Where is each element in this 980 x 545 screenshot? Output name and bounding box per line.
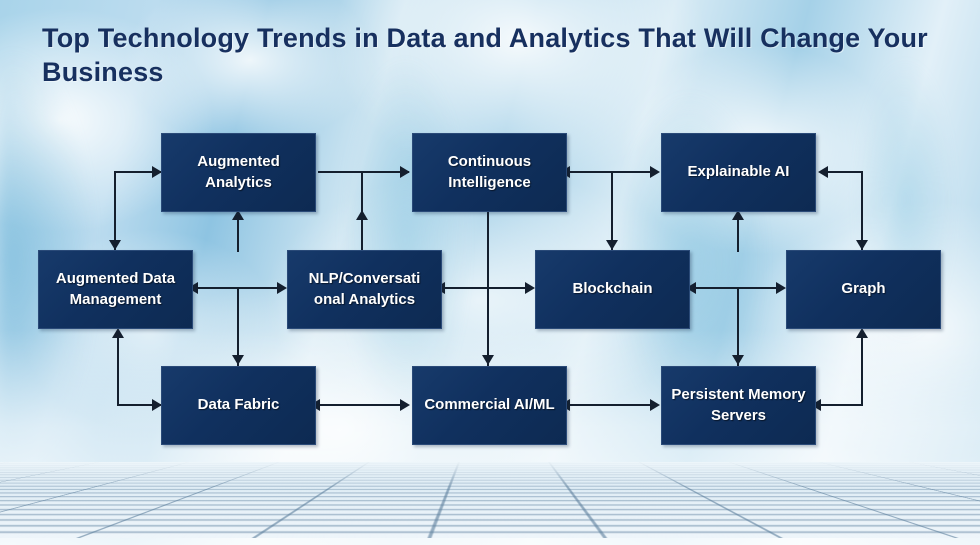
connector-ci-down-spine (487, 212, 489, 288)
connector-ci-nlp-horizontal (318, 171, 364, 173)
node-label: Commercial AI/ML (424, 395, 554, 415)
connector-graph-xai-horizontal (826, 171, 863, 173)
connector-ci-xai-horizontal (568, 171, 658, 173)
node-label: Explainable AI (688, 162, 790, 182)
slide-canvas: Top Technology Trends in Data and Analyt… (0, 0, 980, 545)
arrowhead-into-explainable-ai-left (650, 166, 660, 178)
arrowhead-into-persistent-memory-servers-top (732, 355, 744, 365)
node-blockchain[interactable]: Blockchain (535, 250, 690, 329)
node-commercial-ai-ml[interactable]: Commercial AI/ML (412, 366, 567, 445)
connector-blockchain-top-vertical (611, 171, 613, 251)
perspective-grid-floor (0, 462, 980, 545)
node-continuous-intelligence[interactable]: Continuous Intelligence (412, 133, 567, 212)
arrowhead-into-augmented-data-management-top (109, 240, 121, 250)
arrowhead-into-commercial-aiml-top (482, 355, 494, 365)
node-label: Augmented Analytics (171, 152, 306, 193)
connector-datafabric-commercial-horizontal (318, 404, 408, 406)
node-label: Data Fabric (198, 395, 280, 415)
grid-fade-overlay (0, 462, 980, 488)
node-augmented-data-management[interactable]: Augmented Data Management (38, 250, 193, 329)
node-label: Graph (841, 279, 885, 299)
node-label: Blockchain (572, 279, 652, 299)
node-explainable-ai[interactable]: Explainable AI (661, 133, 816, 212)
arrowhead-into-blockchain-left (525, 282, 535, 294)
arrowhead-into-explainable-ai-right (818, 166, 828, 178)
node-label: NLP/Conversati onal Analytics (297, 269, 432, 310)
arrowhead-into-commercial-aiml-left (400, 399, 410, 411)
connector-pms-graph-vertical (861, 330, 863, 405)
node-persistent-memory-servers[interactable]: Persistent Memory Servers (661, 366, 816, 445)
node-label: Persistent Memory Servers (671, 385, 806, 426)
connector-pms-graph-horizontal (819, 404, 863, 406)
connector-datafabric-adm-vertical (117, 330, 119, 405)
arrowhead-into-blockchain-top (606, 240, 618, 250)
connector-adm-nlp-horizontal (196, 287, 284, 289)
node-augmented-analytics[interactable]: Augmented Analytics (161, 133, 316, 212)
page-title: Top Technology Trends in Data and Analyt… (42, 22, 942, 90)
node-data-fabric[interactable]: Data Fabric (161, 366, 316, 445)
connector-blockchain-graph-horizontal (694, 287, 784, 289)
arrowhead-into-graph-top (856, 240, 868, 250)
arrowhead-into-nlp-left (277, 282, 287, 294)
connector-nlp-blockchain-horizontal (443, 287, 533, 289)
connector-ci-left-stub (361, 171, 409, 173)
arrowhead-into-persistent-memory-servers-left (650, 399, 660, 411)
connector-ci-nlp-elbow-vertical (361, 171, 363, 213)
arrowhead-into-graph-left (776, 282, 786, 294)
node-label: Augmented Data Management (48, 269, 183, 310)
connector-commercial-pms-horizontal (568, 404, 658, 406)
connector-graph-xai-vertical (861, 171, 863, 251)
arrowhead-into-augmented-data-management-bottom (112, 328, 124, 338)
node-nlp-conversational-analytics[interactable]: NLP/Conversati onal Analytics (287, 250, 442, 329)
node-label: Continuous Intelligence (422, 152, 557, 193)
arrowhead-into-graph-bottom (856, 328, 868, 338)
arrowhead-into-data-fabric-top (232, 355, 244, 365)
node-graph[interactable]: Graph (786, 250, 941, 329)
